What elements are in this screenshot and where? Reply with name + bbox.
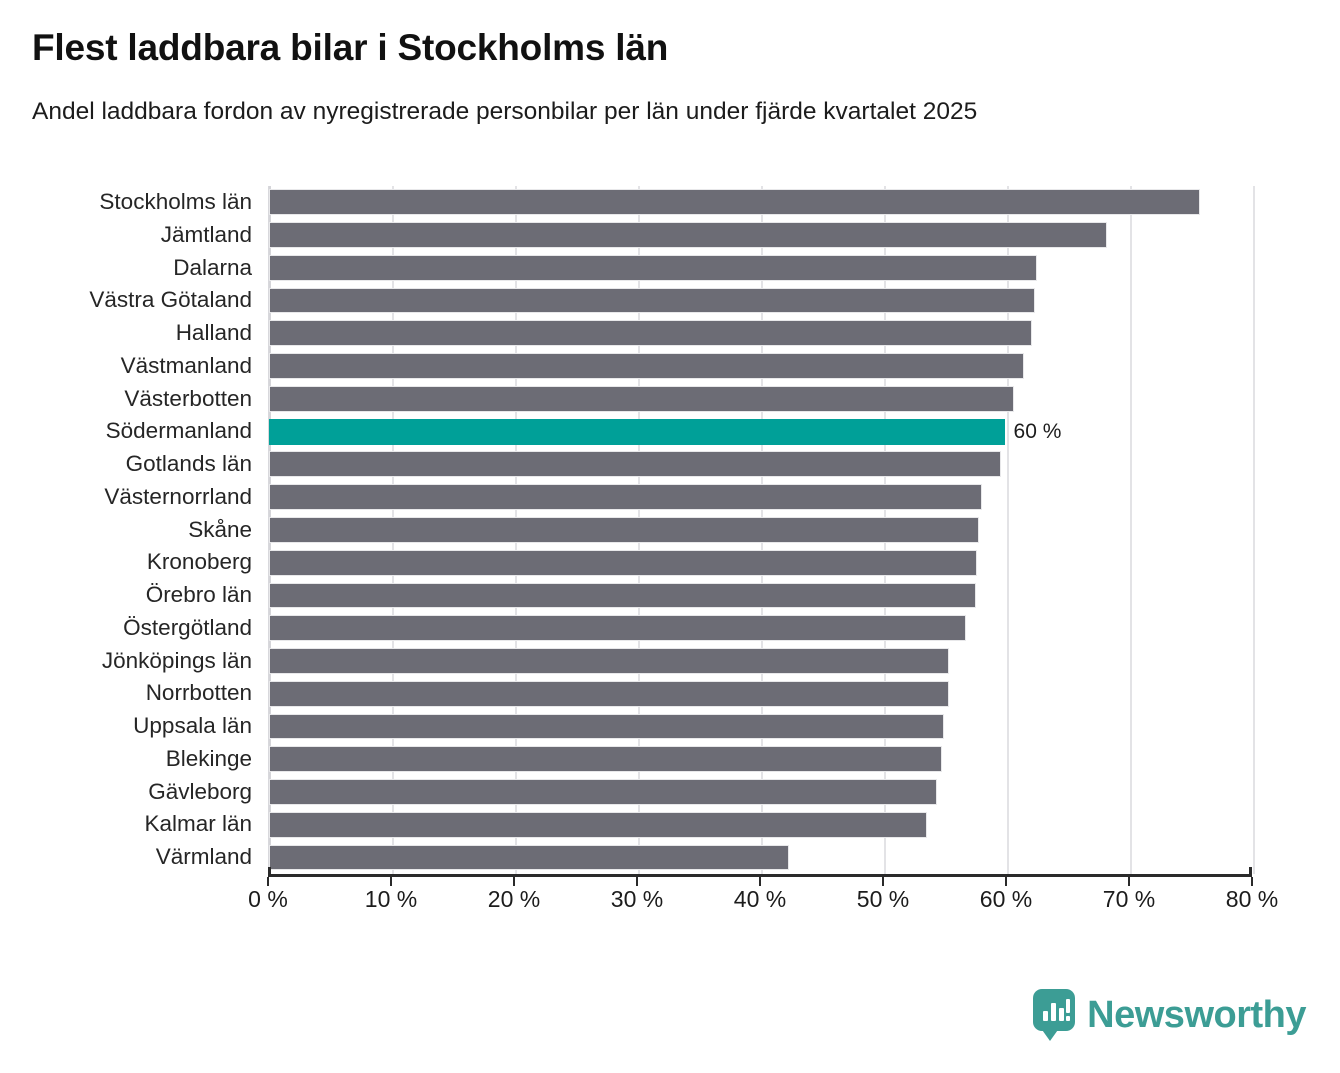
bar-row[interactable]	[269, 776, 1253, 809]
y-axis-label-0: Stockholms län	[99, 186, 252, 219]
bar-14[interactable]	[269, 648, 949, 674]
bar-row[interactable]	[269, 808, 1253, 841]
bar-4[interactable]	[269, 320, 1032, 346]
x-tick-label-60: 60 %	[980, 886, 1032, 913]
bar-row[interactable]	[269, 481, 1253, 514]
logo-bar-2	[1051, 1003, 1056, 1021]
bar-19[interactable]	[269, 812, 927, 838]
bar-row[interactable]	[269, 579, 1253, 612]
y-axis-label-19: Kalmar län	[144, 808, 252, 841]
x-tick-mark-70	[1128, 877, 1130, 886]
y-axis-label-10: Skåne	[188, 514, 252, 547]
bar-18[interactable]	[269, 779, 937, 805]
bar-chart-speech-bubble-icon	[1033, 989, 1075, 1041]
bar-row[interactable]	[269, 383, 1253, 416]
bar-chart: Stockholms länJämtlandDalarnaVästra Göta…	[0, 186, 1340, 946]
bar-11[interactable]	[269, 550, 977, 576]
x-tick-mark-40	[759, 877, 761, 886]
logo-bar-1	[1043, 1011, 1048, 1021]
x-tick-label-10: 10 %	[365, 886, 417, 913]
x-tick-mark-20	[513, 877, 515, 886]
logo-exclamation-dot	[1066, 1016, 1070, 1021]
x-axis-cap-start	[268, 867, 271, 877]
bar-6[interactable]	[269, 386, 1014, 412]
y-axis-label-12: Örebro län	[146, 579, 252, 612]
bar-row[interactable]	[269, 514, 1253, 547]
bar-15[interactable]	[269, 681, 949, 707]
y-axis-label-2: Dalarna	[173, 252, 252, 285]
bar-12[interactable]	[269, 583, 976, 609]
y-axis-label-18: Gävleborg	[148, 776, 252, 809]
y-axis-label-7: Södermanland	[106, 415, 252, 448]
bar-row[interactable]	[269, 252, 1253, 285]
x-tick-mark-80	[1251, 877, 1253, 886]
y-axis-label-6: Västerbotten	[124, 383, 252, 416]
x-tick-label-0: 0 %	[248, 886, 288, 913]
logo-exclamation-stem	[1066, 999, 1070, 1013]
x-tick-mark-50	[882, 877, 884, 886]
y-axis-label-14: Jönköpings län	[102, 645, 252, 678]
x-tick-mark-0	[267, 877, 269, 886]
bar-row[interactable]	[269, 350, 1253, 383]
x-tick-label-50: 50 %	[857, 886, 909, 913]
bar-row[interactable]	[269, 743, 1253, 776]
bar-16[interactable]	[269, 714, 944, 740]
x-tick-mark-10	[390, 877, 392, 886]
bar-row[interactable]	[269, 317, 1253, 350]
bar-9[interactable]	[269, 484, 982, 510]
chart-subtitle: Andel laddbara fordon av nyregistrerade …	[32, 69, 1312, 126]
bar-2[interactable]	[269, 255, 1037, 281]
y-axis-label-11: Kronoberg	[147, 546, 252, 579]
x-tick-label-40: 40 %	[734, 886, 786, 913]
x-tick-label-30: 30 %	[611, 886, 663, 913]
bar-5[interactable]	[269, 353, 1024, 379]
bar-3[interactable]	[269, 288, 1035, 314]
logo-wordmark: Newsworthy	[1087, 996, 1306, 1034]
bar-row[interactable]	[269, 546, 1253, 579]
bar-row[interactable]	[269, 645, 1253, 678]
bar-row[interactable]	[269, 710, 1253, 743]
x-tick-label-70: 70 %	[1103, 886, 1155, 913]
bar-value-label: 60 %	[1005, 419, 1062, 445]
logo-bubble-tail	[1040, 1027, 1060, 1041]
x-axis-tick-labels: 0 %10 %20 %30 %40 %50 %60 %70 %80 %	[0, 886, 1340, 926]
y-axis-label-4: Halland	[176, 317, 252, 350]
bar-8[interactable]	[269, 451, 1001, 477]
x-axis-cap-end	[1249, 867, 1252, 877]
bar-17[interactable]	[269, 746, 942, 772]
plot-area: 60 %	[268, 186, 1253, 874]
newsworthy-logo: Newsworthy	[1033, 989, 1306, 1041]
y-axis-label-5: Västmanland	[121, 350, 252, 383]
y-axis-label-8: Gotlands län	[126, 448, 252, 481]
y-axis-label-20: Värmland	[156, 841, 252, 874]
x-tick-label-20: 20 %	[488, 886, 540, 913]
bar-row[interactable]	[269, 284, 1253, 317]
y-axis-label-13: Östergötland	[123, 612, 252, 645]
logo-bar-3	[1059, 1008, 1064, 1021]
x-tick-label-80: 80 %	[1226, 886, 1278, 913]
bar-7[interactable]	[269, 419, 1005, 445]
y-axis-category-labels: Stockholms länJämtlandDalarnaVästra Göta…	[0, 186, 258, 874]
bar-row[interactable]	[269, 841, 1253, 874]
gridline-80	[1253, 186, 1255, 874]
x-tick-mark-60	[1005, 877, 1007, 886]
bar-row[interactable]	[269, 612, 1253, 645]
y-axis-label-16: Uppsala län	[133, 710, 252, 743]
y-axis-label-1: Jämtland	[161, 219, 252, 252]
bar-row[interactable]	[269, 219, 1253, 252]
bar-row[interactable]	[269, 677, 1253, 710]
bar-0[interactable]	[269, 189, 1200, 215]
bar-row[interactable]	[269, 448, 1253, 481]
bar-13[interactable]	[269, 615, 966, 641]
y-axis-label-17: Blekinge	[166, 743, 252, 776]
chart-header: Flest laddbara bilar i Stockholms län An…	[32, 28, 1312, 126]
bar-20[interactable]	[269, 845, 789, 871]
page-title: Flest laddbara bilar i Stockholms län	[32, 28, 1312, 69]
bar-10[interactable]	[269, 517, 979, 543]
y-axis-label-15: Norrbotten	[146, 677, 252, 710]
bar-row[interactable]	[269, 186, 1253, 219]
y-axis-label-3: Västra Götaland	[89, 284, 252, 317]
y-axis-label-9: Västernorrland	[104, 481, 252, 514]
bar-1[interactable]	[269, 222, 1107, 248]
x-tick-mark-30	[636, 877, 638, 886]
bar-row[interactable]: 60 %	[269, 415, 1253, 448]
